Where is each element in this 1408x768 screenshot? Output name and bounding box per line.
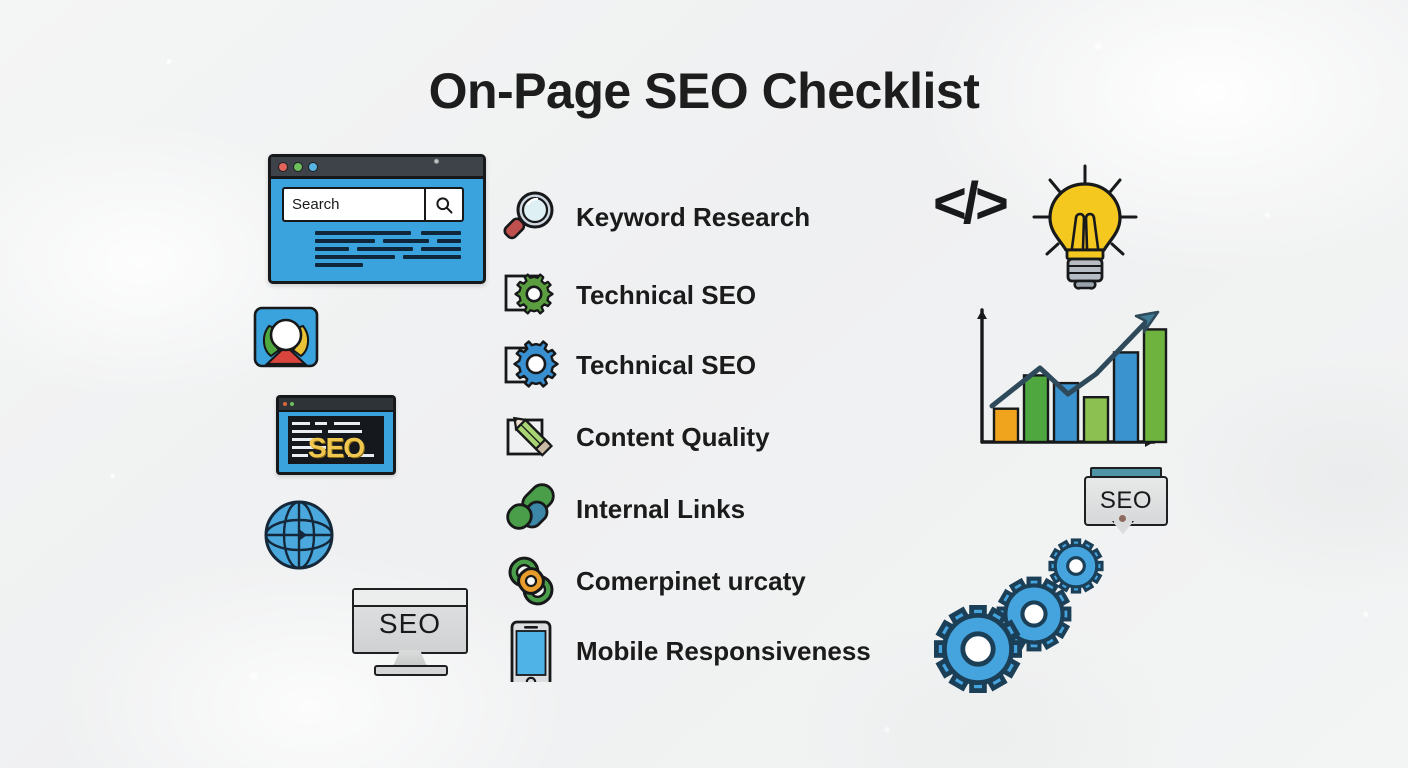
checklist-item-comerpinet-urcaty[interactable]: Comerpinet urcaty <box>500 550 806 612</box>
code-line <box>292 422 310 425</box>
code-line <box>315 422 327 425</box>
gear-icon <box>500 264 562 326</box>
gears-cluster-icon <box>928 531 1124 698</box>
content-line <box>315 247 349 251</box>
pencil-icon <box>500 406 562 468</box>
window-dot-close <box>278 162 288 172</box>
code-line <box>334 422 360 425</box>
content-line <box>421 247 461 251</box>
lightbulb-icon <box>1020 160 1150 305</box>
content-line <box>383 239 429 243</box>
window-dot-minimize <box>293 162 303 172</box>
gear-small <box>1050 540 1102 592</box>
magnifier-icon <box>500 186 562 248</box>
window-dot-minimize <box>290 402 294 406</box>
content-line <box>315 239 375 243</box>
infographic-canvas: On-Page SEO Checklist Search <box>0 0 1408 768</box>
checklist-item-technical-seo-blue[interactable]: Technical SEO <box>500 334 756 396</box>
monitor-base <box>374 665 448 676</box>
checklist-item-label: Keyword Research <box>576 202 810 233</box>
checklist-item-label: Internal Links <box>576 494 745 525</box>
content-line <box>315 255 395 259</box>
monitor-topbar <box>354 590 466 607</box>
monitor-label: SEO <box>354 608 466 640</box>
checklist-item-label: Comerpinet urcaty <box>576 566 806 597</box>
seo-code-window: SEO <box>276 395 396 475</box>
checklist-item-keyword-research[interactable]: Keyword Research <box>500 186 810 248</box>
checklist-item-label: Mobile Responsiveness <box>576 636 871 667</box>
search-input-value: Search <box>284 196 424 213</box>
page-title: On-Page SEO Checklist <box>0 62 1408 120</box>
seo-badge-dot <box>1119 515 1126 522</box>
desktop-monitor-icon: SEO <box>352 588 468 654</box>
code-brackets-icon: </> <box>933 170 1005 237</box>
checklist-item-label: Content Quality <box>576 422 770 453</box>
growth-bar-chart <box>968 296 1168 453</box>
search-icon[interactable] <box>424 189 462 220</box>
content-line <box>403 255 461 259</box>
seo-speech-bubble-badge: SEO <box>1084 476 1168 526</box>
chain-link-icon <box>500 478 562 540</box>
checklist-item-label: Technical SEO <box>576 280 756 311</box>
checklist-item-technical-seo-green[interactable]: Technical SEO <box>500 264 756 326</box>
gear-icon <box>500 334 562 396</box>
chain-link-icon <box>500 550 562 612</box>
smartphone-icon <box>500 620 562 682</box>
checklist-item-internal-links[interactable]: Internal Links <box>500 478 745 540</box>
colorful-profile-icon <box>253 306 319 373</box>
content-line <box>437 239 461 243</box>
seo-code-window-label: SEO <box>288 432 384 464</box>
content-line <box>421 231 461 235</box>
content-line <box>315 263 363 267</box>
code-window-screen: SEO <box>288 416 384 464</box>
globe-compass-icon <box>263 499 335 576</box>
code-window-titlebar <box>279 398 393 412</box>
checklist-item-label: Technical SEO <box>576 350 756 381</box>
content-line <box>315 231 411 235</box>
seo-badge-label: SEO <box>1100 487 1152 515</box>
checklist-item-mobile-responsiveness[interactable]: Mobile Responsiveness <box>500 620 871 682</box>
content-line <box>357 247 413 251</box>
browser-titlebar <box>271 157 483 179</box>
window-dot-close <box>283 402 287 406</box>
search-input[interactable]: Search <box>282 187 464 222</box>
window-dot-maximize <box>308 162 318 172</box>
checklist-item-content-quality[interactable]: Content Quality <box>500 406 770 468</box>
browser-window-illustration: Search <box>268 154 486 284</box>
